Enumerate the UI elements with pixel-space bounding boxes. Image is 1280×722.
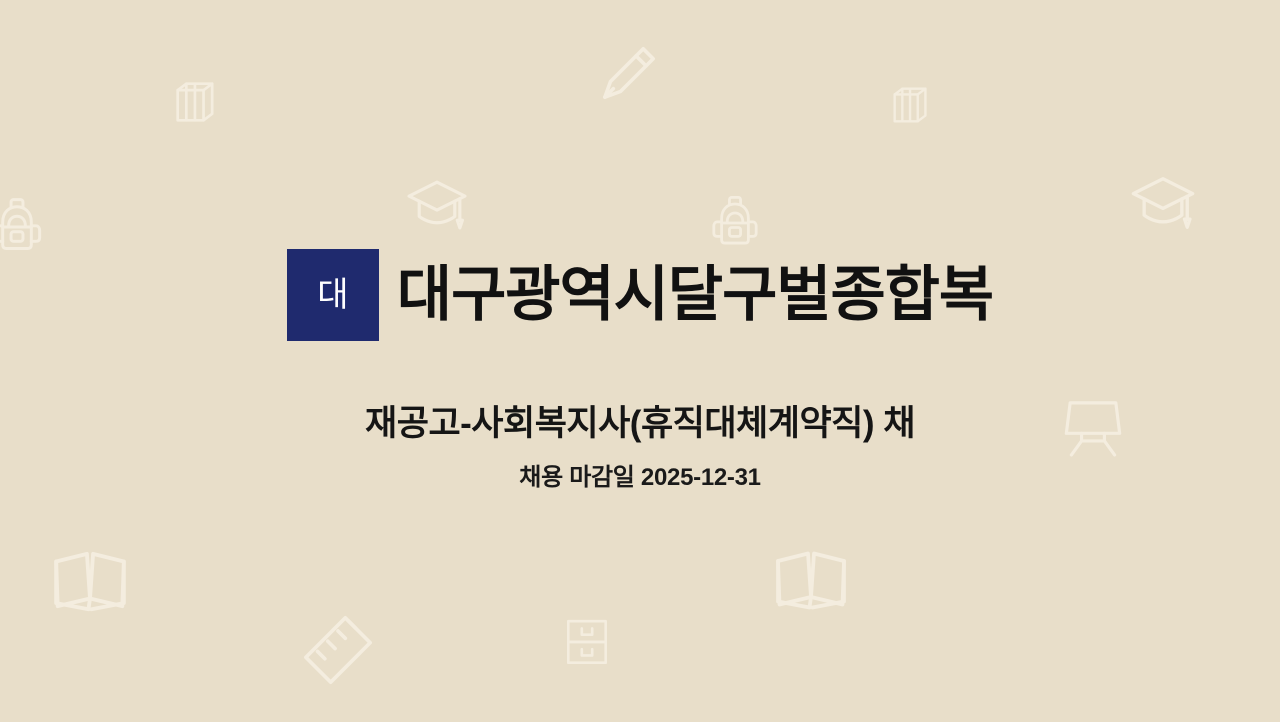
job-posting-poster: 대 대구광역시달구벌종합복 재공고-사회복지사(휴직대체계약직) 채 채용 마감…	[0, 0, 1280, 722]
organization-title: 대구광역시달구벌종합복	[397, 263, 993, 328]
job-title-subtitle: 재공고-사회복지사(휴직대체계약직) 채	[0, 402, 1280, 446]
organization-badge: 대	[287, 249, 379, 341]
application-deadline: 채용 마감일 2025-12-31	[0, 462, 1280, 493]
poster-content: 대 대구광역시달구벌종합복 재공고-사회복지사(휴직대체계약직) 채 채용 마감…	[0, 0, 1280, 722]
title-row: 대 대구광역시달구벌종합복	[0, 242, 1280, 348]
